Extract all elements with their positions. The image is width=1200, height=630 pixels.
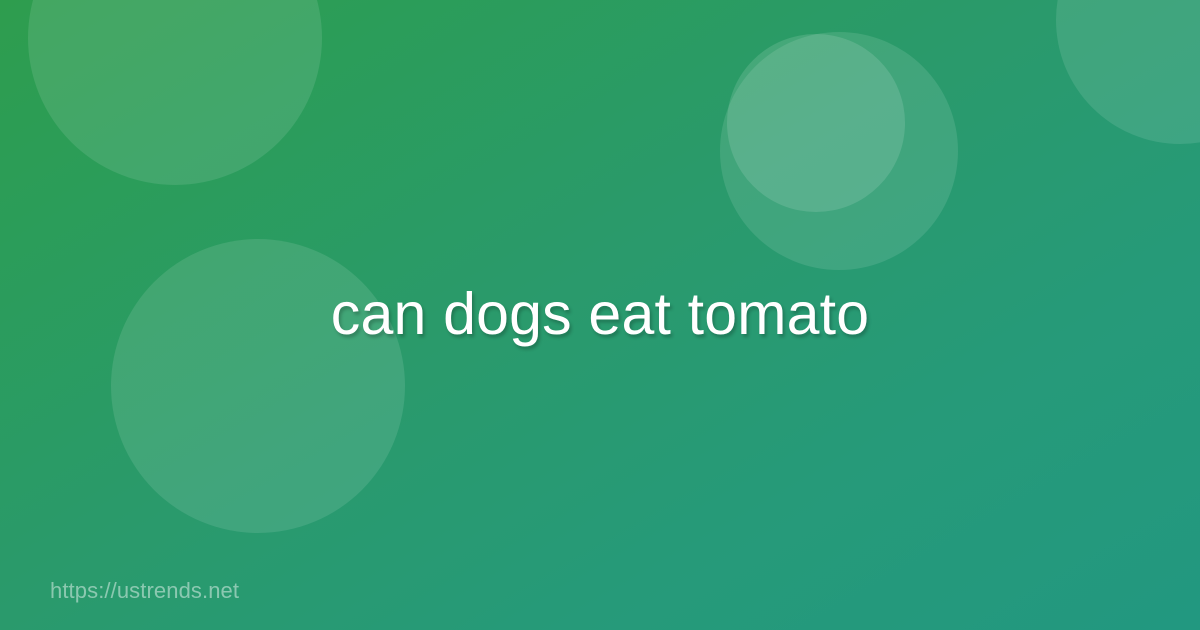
page-title: can dogs eat tomato <box>331 280 869 350</box>
og-share-card: can dogs eat tomato https://ustrends.net <box>0 0 1200 630</box>
title-container: can dogs eat tomato <box>0 0 1200 630</box>
site-url-label: https://ustrends.net <box>50 578 239 604</box>
